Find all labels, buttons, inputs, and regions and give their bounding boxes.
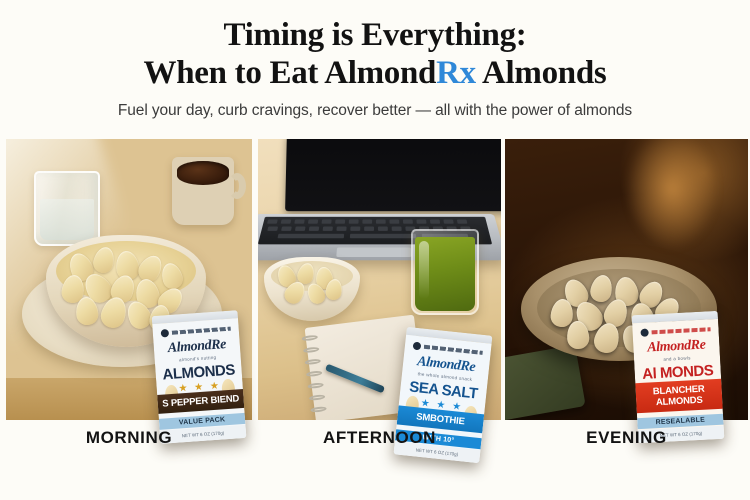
packet-micro-text (424, 345, 483, 355)
product-packet-evening[interactable]: AlmondRe and a bowls Al MONDS ★ ★ ★ BLAN… (632, 311, 725, 443)
keyboard-key (362, 220, 372, 224)
keyboard-key (443, 220, 453, 224)
packet-micro-text (652, 327, 711, 334)
title-line-2: When to Eat AlmondRx Almonds (0, 54, 750, 92)
keyboard-key (416, 220, 426, 224)
notebook-spiral (304, 358, 320, 365)
keyboard-key (403, 220, 413, 224)
keyboard-key (389, 220, 399, 224)
keyboard-key (350, 227, 360, 231)
warm-light-glow (626, 139, 718, 249)
panel-morning[interactable]: AlmondRe almond's nutting ALMONDS ★ ★ ★ … (6, 139, 252, 420)
packet-micro-text (172, 327, 231, 335)
panel-afternoon[interactable]: AlmondRe the whole almond snack SEA SALT… (258, 139, 501, 420)
keyboard-key (349, 220, 359, 224)
poster-root: Timing is Everything: When to Eat Almond… (0, 0, 750, 500)
keyboard-key (295, 227, 306, 231)
keyboard-key (376, 220, 386, 224)
keyboard-key (323, 227, 333, 231)
keyboard-key (430, 220, 440, 224)
keyboard-key (350, 234, 416, 238)
packet-flavor-band: BLANCHER ALMONDS (635, 379, 722, 413)
keyboard-key (392, 227, 402, 231)
almond-piece (588, 273, 614, 304)
caption-morning: MORNING (6, 428, 252, 448)
laptop-trackpad (336, 247, 411, 257)
certification-icon (640, 328, 648, 336)
keyboard-key (281, 227, 292, 231)
keyboard-key (267, 220, 278, 224)
product-packet-morning[interactable]: AlmondRe almond's nutting ALMONDS ★ ★ ★ … (152, 310, 247, 444)
panel-captions: MORNING AFTERNOON EVENING (0, 428, 750, 458)
green-smoothie-glass (411, 229, 479, 315)
notebook-spiral (303, 346, 319, 353)
keyboard-key (294, 220, 304, 224)
caption-afternoon: AFTERNOON (258, 428, 501, 448)
packet-face: AlmondRe and a bowls Al MONDS ★ ★ ★ BLAN… (632, 319, 724, 443)
notebook-spiral (307, 382, 323, 389)
mug-handle (228, 173, 246, 199)
packet-face: AlmondRe almond's nutting ALMONDS ★ ★ ★ … (152, 318, 246, 444)
keyboard-key (336, 227, 346, 231)
panel-evening[interactable]: AlmondRe and a bowls Al MONDS ★ ★ ★ BLAN… (505, 139, 748, 420)
notebook-spiral (310, 406, 326, 413)
keyboard-key (322, 220, 332, 224)
page-title: Timing is Everything: When to Eat Almond… (0, 0, 750, 92)
keyboard-key (267, 227, 278, 231)
title-line-2-suffix: Almonds (476, 55, 607, 91)
header: Timing is Everything: When to Eat Almond… (0, 0, 750, 120)
title-line-1: Timing is Everything: (0, 16, 750, 54)
keyboard-key (364, 227, 374, 231)
certification-icon (413, 342, 422, 351)
caption-evening: EVENING (505, 428, 748, 448)
page-subtitle: Fuel your day, curb cravings, recover be… (0, 102, 750, 120)
keyboard-key (378, 227, 388, 231)
almond-piece (91, 245, 117, 275)
keyboard-key (281, 220, 292, 224)
laptop-screen (285, 139, 501, 211)
keyboard-key (457, 220, 468, 224)
coffee-mug (172, 157, 234, 225)
almond-piece (159, 261, 185, 292)
notebook-spiral (306, 370, 322, 377)
title-line-2-prefix: When to Eat Almond (144, 55, 437, 91)
brand-rx-mark: Rx (436, 55, 476, 91)
certification-icon (161, 329, 170, 338)
notebook-spiral (309, 394, 325, 401)
keyboard-key (335, 220, 345, 224)
keyboard-key (278, 234, 345, 238)
panel-gallery: AlmondRe almond's nutting ALMONDS ★ ★ ★ … (6, 139, 748, 420)
water-glass (34, 171, 100, 246)
keyboard-key (308, 220, 318, 224)
keyboard-key (309, 227, 319, 231)
notebook-spiral (302, 335, 318, 342)
